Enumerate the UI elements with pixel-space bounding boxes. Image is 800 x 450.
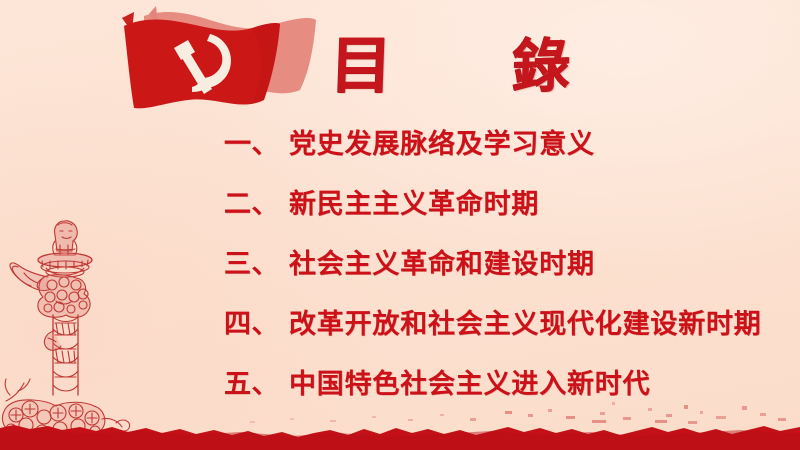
title-char-mu: 目 xyxy=(329,35,393,97)
list-item-index: 四、 xyxy=(224,302,279,341)
list-item[interactable]: 四、 改革开放和社会主义现代化建设新时期 xyxy=(224,302,784,362)
cloud-plate xyxy=(38,253,92,277)
slide-canvas: 目 錄 一、 党史发展脉络及学习意义 二、 新民主主义革命时期 三、 社会主义革… xyxy=(0,0,800,450)
list-item-index: 三、 xyxy=(224,242,279,281)
list-item[interactable]: 三、 社会主义革命和建设时期 xyxy=(224,242,784,302)
title-char-lu: 錄 xyxy=(511,36,571,95)
huabiao-column-icon xyxy=(0,205,148,440)
list-item-label: 中国特色社会主义进入新时代 xyxy=(289,362,650,401)
list-item[interactable]: 一、 党史发展脉络及学习意义 xyxy=(224,122,784,182)
list-item-label: 新民主主义革命时期 xyxy=(289,182,539,221)
ink-brush-band xyxy=(0,416,800,450)
list-item-index: 一、 xyxy=(224,122,279,161)
contents-list: 一、 党史发展脉络及学习意义 二、 新民主主义革命时期 三、 社会主义革命和建设… xyxy=(224,122,784,422)
cloud-carving xyxy=(38,275,90,318)
list-item[interactable]: 五、 中国特色社会主义进入新时代 xyxy=(224,362,784,422)
list-item-label: 改革开放和社会主义现代化建设新时期 xyxy=(289,302,762,341)
stone-lion-icon xyxy=(53,221,78,255)
list-item-index: 五、 xyxy=(224,362,279,401)
list-item-label: 党史发展脉络及学习意义 xyxy=(289,122,595,161)
list-item-label: 社会主义革命和建设时期 xyxy=(289,242,595,281)
list-item-index: 二、 xyxy=(224,182,279,221)
page-title: 目 錄 xyxy=(330,18,570,114)
communist-party-flag-icon xyxy=(100,4,320,122)
column-shaft xyxy=(44,315,78,395)
list-item[interactable]: 二、 新民主主义革命时期 xyxy=(224,182,784,242)
